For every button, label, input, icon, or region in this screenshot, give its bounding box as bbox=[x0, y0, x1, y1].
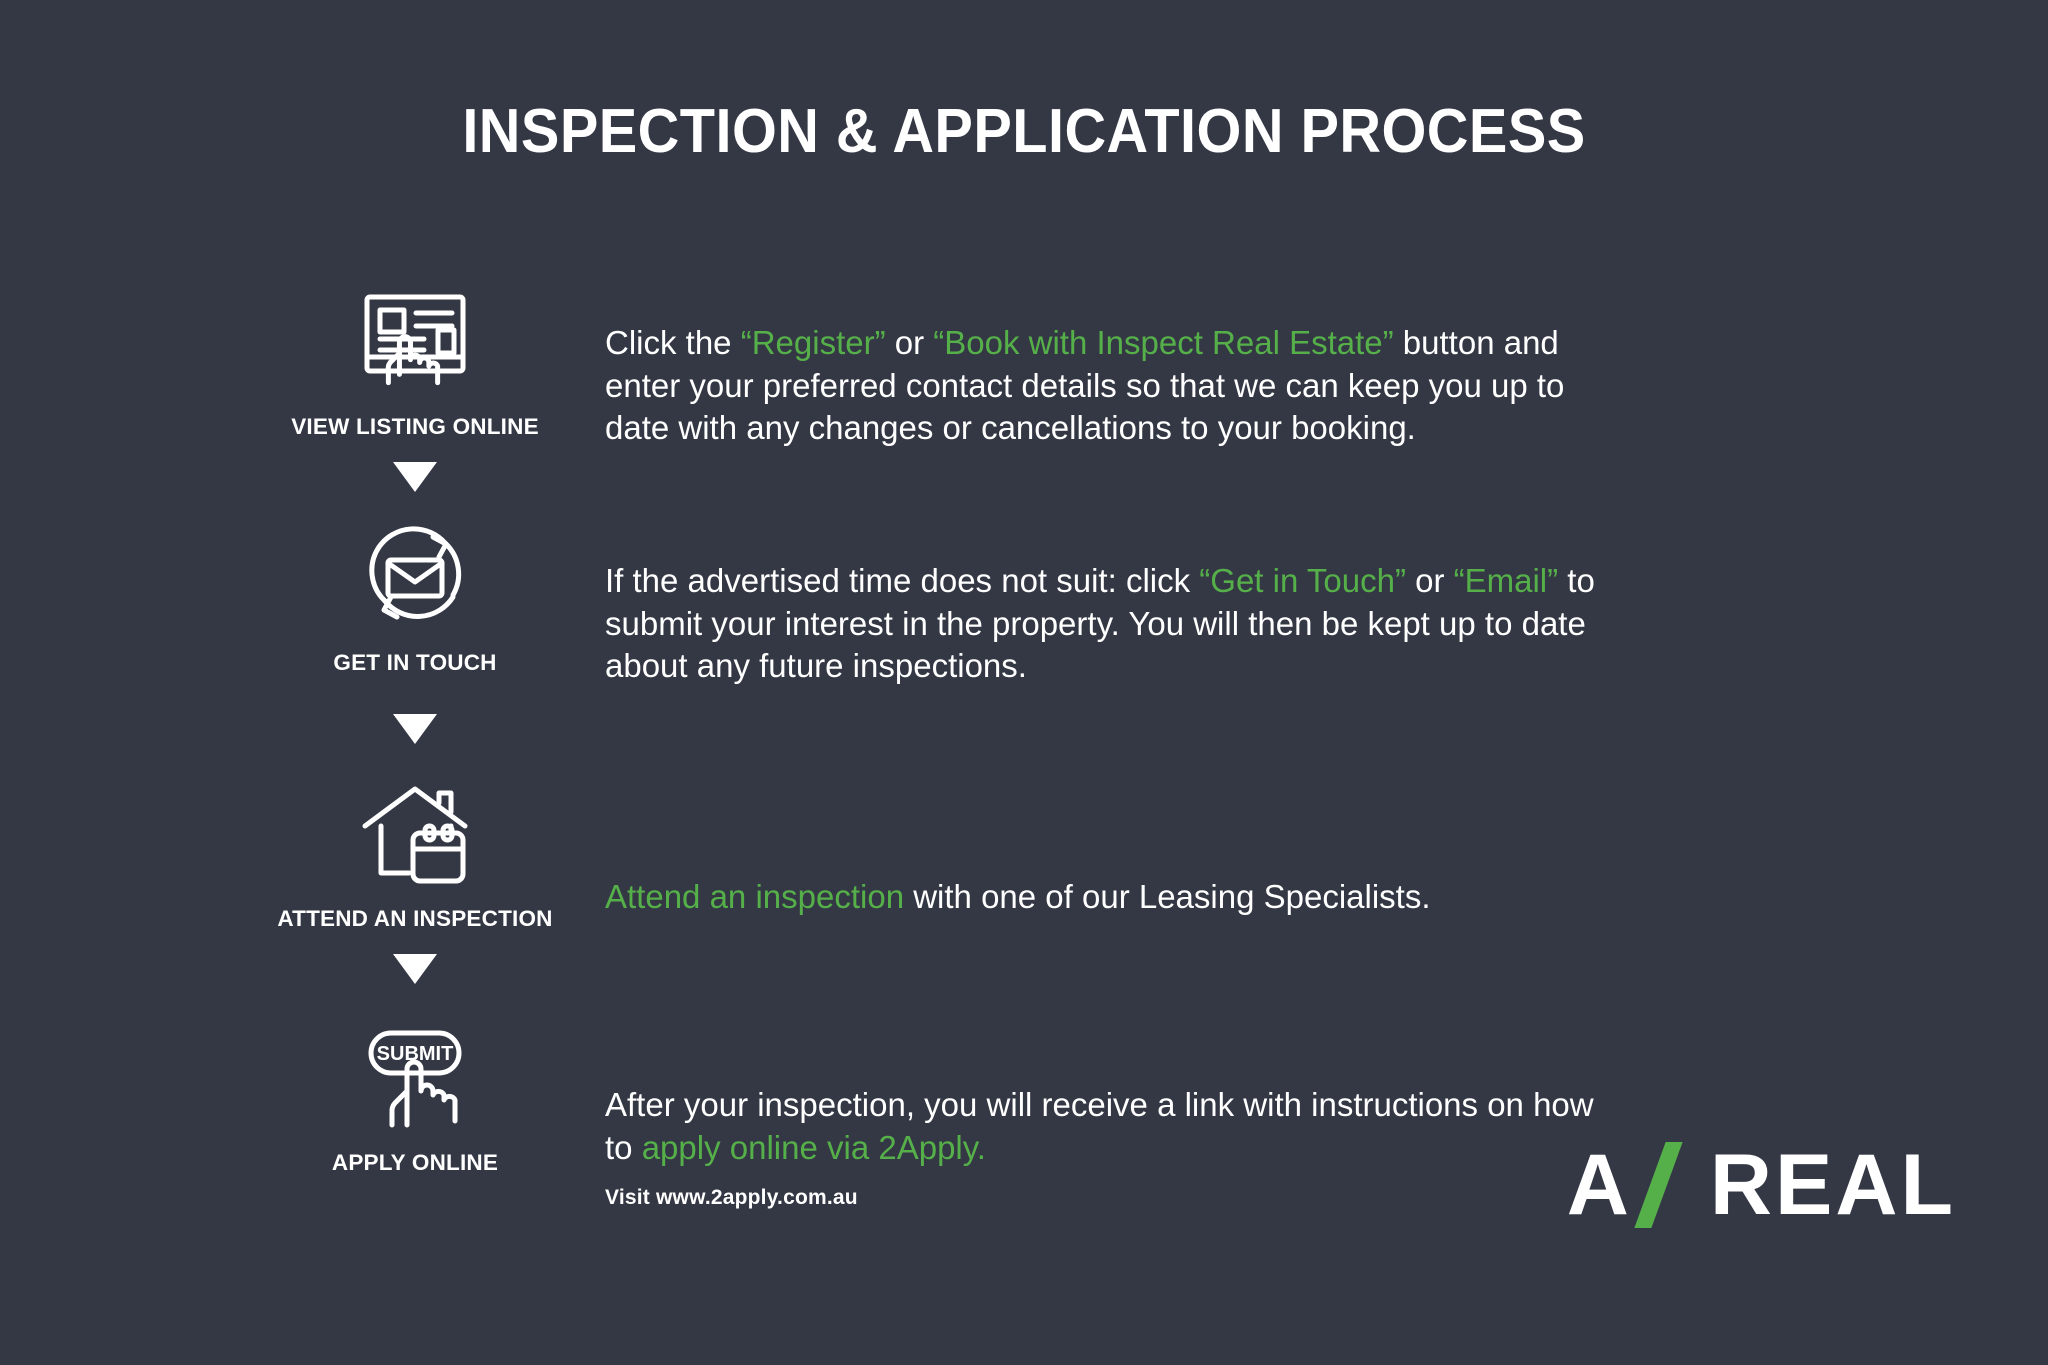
step-label: GET IN TOUCH bbox=[333, 650, 496, 676]
flow-arrow-down-icon bbox=[270, 462, 560, 492]
step-body-attend-an-inspection: Attend an inspection with one of our Lea… bbox=[605, 876, 1615, 919]
body-text: or bbox=[886, 324, 934, 361]
body-highlight: “Email” bbox=[1454, 562, 1559, 599]
process-flow-column: VIEW LISTING ONLINE GET IN TOU bbox=[270, 282, 560, 1176]
body-text: If the advertised time does not suit: cl… bbox=[605, 562, 1199, 599]
flow-arrow-down-icon bbox=[270, 954, 560, 984]
body-text: or bbox=[1406, 562, 1454, 599]
body-highlight: “Get in Touch” bbox=[1199, 562, 1406, 599]
logo-name: REAL bbox=[1710, 1142, 1956, 1228]
step-node-view-listing-online: VIEW LISTING ONLINE bbox=[270, 282, 560, 440]
step-body-apply-online: After your inspection, you will receive … bbox=[605, 1084, 1615, 1169]
body-highlight: “Register” bbox=[741, 324, 886, 361]
step-body-get-in-touch: If the advertised time does not suit: cl… bbox=[605, 560, 1615, 688]
infographic-page: INSPECTION & APPLICATION PROCESS V bbox=[0, 0, 2048, 1365]
logo-mark-letter: A bbox=[1567, 1142, 1632, 1228]
house-calendar-icon bbox=[357, 774, 473, 892]
body-highlight: Attend an inspection bbox=[605, 878, 904, 915]
page-title: INSPECTION & APPLICATION PROCESS bbox=[72, 96, 1977, 167]
step-body-view-listing-online: Click the “Register” or “Book with Inspe… bbox=[605, 322, 1615, 450]
body-highlight: apply online via 2Apply. bbox=[642, 1129, 986, 1166]
envelope-refresh-icon bbox=[357, 518, 473, 636]
step-label: VIEW LISTING ONLINE bbox=[291, 414, 539, 440]
company-logo: A REAL bbox=[1567, 1142, 1956, 1228]
step-node-attend-an-inspection: ATTEND AN INSPECTION bbox=[270, 774, 560, 932]
step-label: APPLY ONLINE bbox=[332, 1150, 498, 1176]
logo-slash-icon bbox=[1642, 1142, 1696, 1228]
flow-arrow-down-icon bbox=[270, 714, 560, 744]
listing-cursor-icon bbox=[356, 282, 474, 400]
body-highlight: “Book with Inspect Real Estate” bbox=[933, 324, 1393, 361]
submit-button-cursor-icon: SUBMIT bbox=[357, 1018, 473, 1136]
visit-url-note: Visit www.2apply.com.au bbox=[605, 1186, 858, 1210]
step-node-apply-online: SUBMIT APPLY ONLINE bbox=[270, 1018, 560, 1176]
body-text: with one of our Leasing Specialists. bbox=[904, 878, 1430, 915]
step-node-get-in-touch: GET IN TOUCH bbox=[270, 518, 560, 676]
body-text: Click the bbox=[605, 324, 741, 361]
step-label: ATTEND AN INSPECTION bbox=[277, 906, 552, 932]
